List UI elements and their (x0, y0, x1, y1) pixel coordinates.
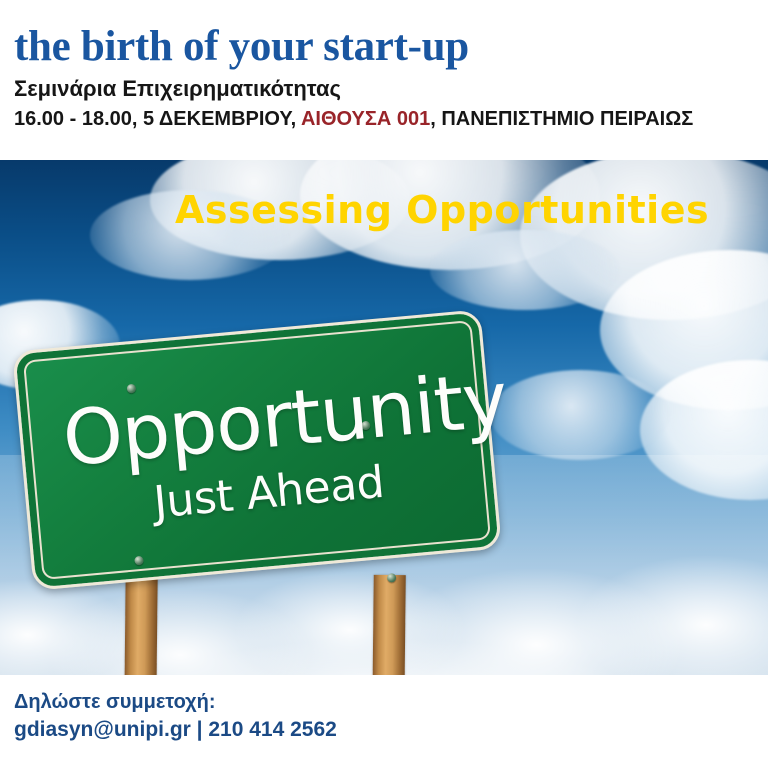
contact-value[interactable]: gdiasyn@unipi.gr | 210 414 2562 (14, 716, 337, 744)
event-details: 16.00 - 18.00, 5 ΔΕΚΕΜΒΡΙΟΥ, ΑΙΘΟΥΣΑ 001… (14, 105, 768, 133)
sky-headline: Assessing Opportunities (175, 188, 765, 232)
poster-footer: Δηλώστε συμμετοχή: gdiasyn@unipi.gr | 21… (0, 675, 768, 768)
event-time-date: 16.00 - 18.00, 5 ΔΕΚΕΜΒΡΙΟΥ, (14, 108, 301, 130)
subtitle: Σεμινάρια Επιχειρηματικότητας (14, 74, 768, 104)
sign-plate: Opportunity Just Ahead (12, 309, 502, 591)
poster-header: the birth of your start-up Σεμινάρια Επι… (0, 0, 768, 160)
sign-rivet (134, 556, 144, 566)
road-sign: Opportunity Just Ahead (12, 309, 502, 591)
poster-canvas: the birth of your start-up Σεμινάρια Επι… (0, 0, 768, 768)
road-sign-group: Opportunity Just Ahead (0, 160, 768, 675)
contact-block: Δηλώστε συμμετοχή: gdiasyn@unipi.gr | 21… (14, 689, 337, 744)
event-venue: , ΠΑΝΕΠΙΣΤΗΜΙΟ ΠΕΙΡΑΙΩΣ (430, 108, 693, 130)
sign-post-right (372, 575, 406, 675)
event-hall: ΑΙΘΟΥΣΑ 001 (301, 108, 430, 130)
contact-label: Δηλώστε συμμετοχή: (14, 689, 337, 716)
hero-photo: Assessing Opportunities Opportunity Just… (0, 160, 768, 675)
page-title: the birth of your start-up (14, 22, 768, 72)
